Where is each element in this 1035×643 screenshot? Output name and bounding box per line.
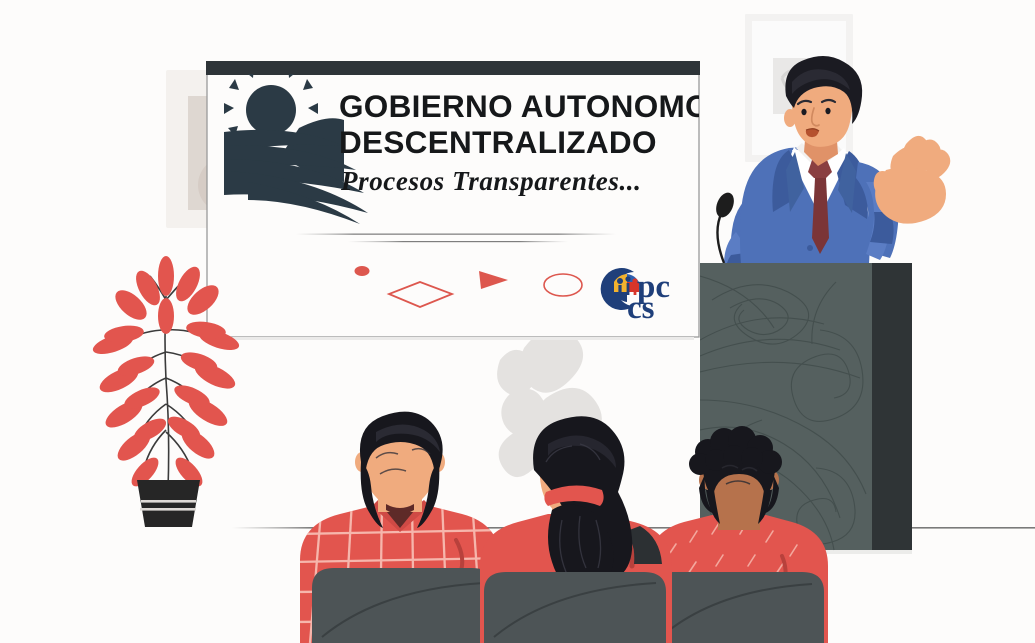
- illustration-canvas: GOBIERNO AUTONOMO DESCENTRALIZADO Proces…: [0, 0, 1035, 643]
- slide-divider-2: [348, 241, 568, 242]
- slide-heading-line2: DESCENTRALIZADO: [339, 124, 657, 160]
- plant-pot: [137, 480, 200, 527]
- podium-side: [872, 263, 912, 553]
- slide-tagline: Procesos Transparentes...: [340, 166, 642, 196]
- audience-1-chair: [312, 568, 494, 643]
- cpccs-text-bottom: cs: [627, 290, 655, 326]
- screen-top-bar: [206, 61, 700, 75]
- slide-heading-line1: GOBIERNO AUTONOMO: [339, 88, 710, 124]
- audience-2-chair: [484, 572, 666, 643]
- red-dot-icon: [355, 266, 370, 276]
- slide-divider-1: [296, 234, 616, 235]
- audience-3-chair: [652, 572, 824, 643]
